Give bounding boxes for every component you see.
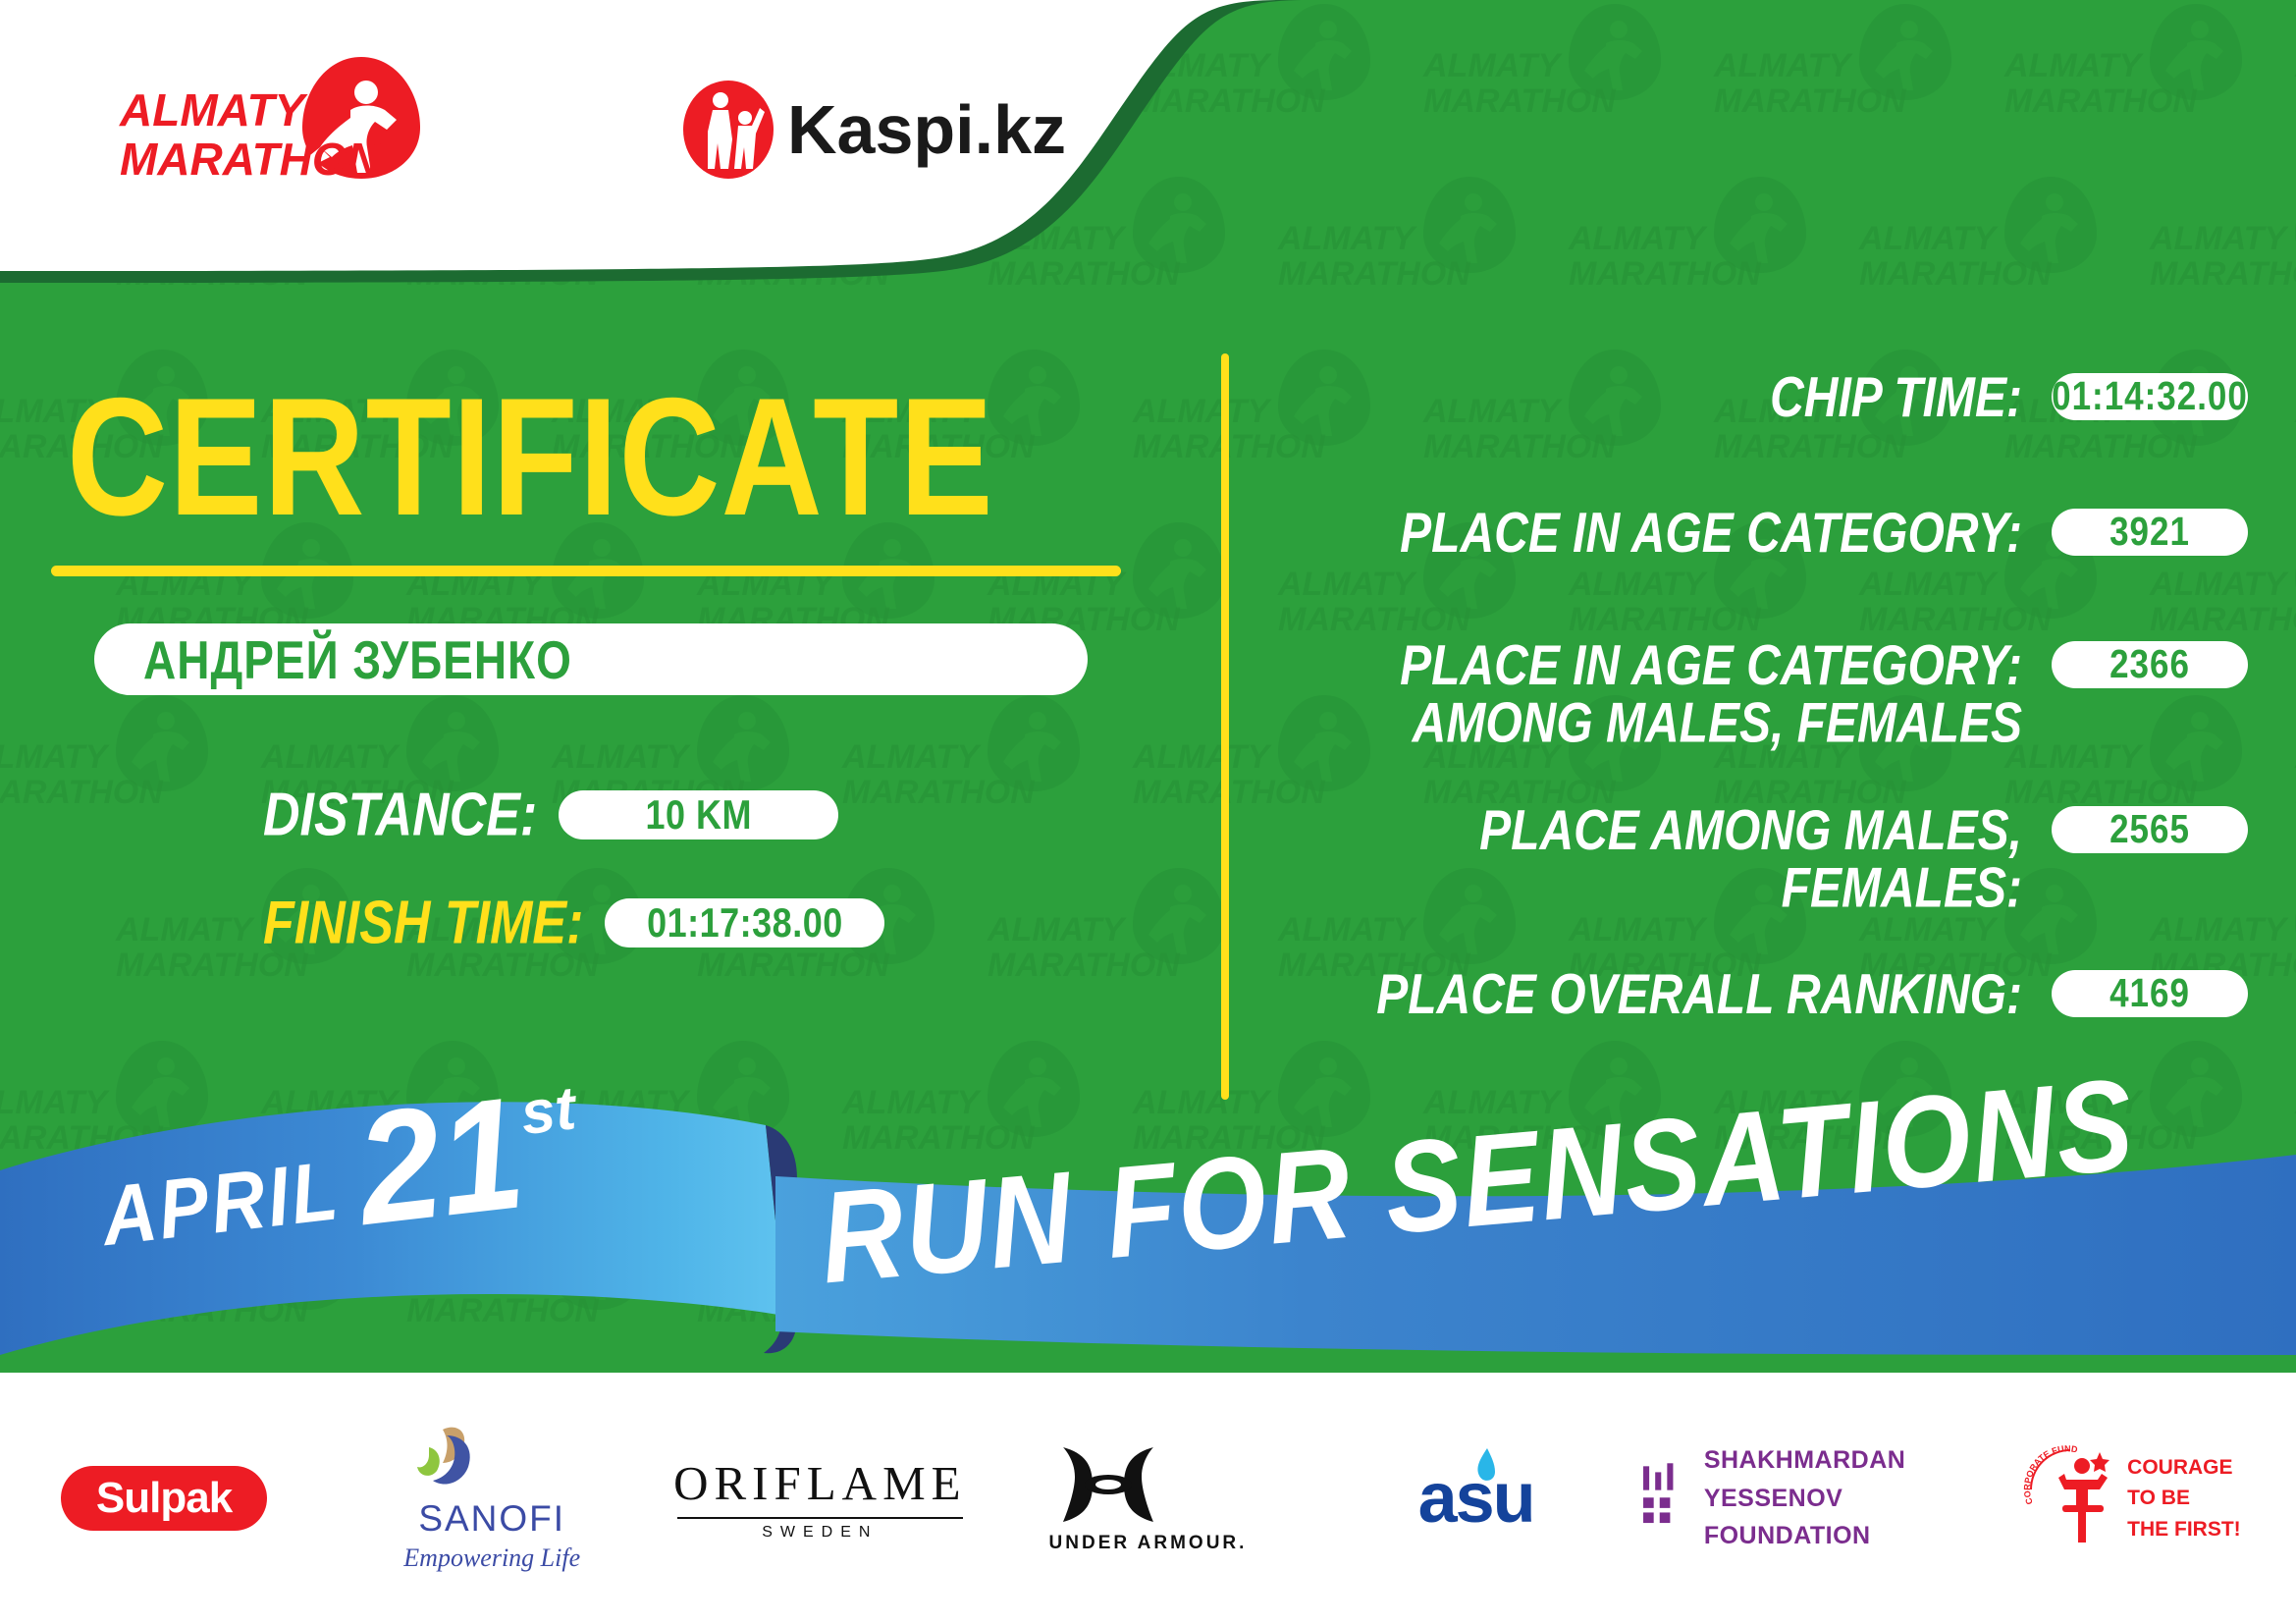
watermark-tile: ALMATYMARATHON [2285,0,2296,167]
under-armour-logo: UNDER ARMOUR. [1049,1443,1248,1554]
result-row-place-age-category: PLACE IN AGE CATEGORY: 3921 [1247,506,2248,556]
sponsor-courage-fund: CORPORATE FUND COURAGE TO BE THE FIRST! [1968,1415,2296,1582]
svg-text:ALMATY: ALMATY [1858,220,1999,257]
watermark-tile: ALMATYMARATHON [1559,163,1863,340]
result-value: 2366 [2109,642,2190,687]
svg-text:ALMATY: ALMATY [1568,1257,1708,1294]
result-label: PLACE AMONG MALES, FEMALES: [1247,803,2030,918]
svg-text:MARATHON: MARATHON [1278,1292,1471,1329]
kaspi-wordmark: Kaspi.kz [787,91,1066,168]
result-row-place-among-gender: PLACE AMONG MALES, FEMALES: 2565 [1247,803,2248,899]
distance-value: 10 KM [645,791,752,839]
header-logos: ALMATY MARATHON Kaspi.kz [0,0,1178,236]
svg-text:MARATHON: MARATHON [552,1119,745,1157]
svg-text:MARATHON: MARATHON [1859,1292,2053,1329]
under-armour-wordmark: UNDER ARMOUR. [1049,1533,1248,1554]
svg-text:MARATHON: MARATHON [116,1292,309,1329]
svg-text:ALMATY: ALMATY [1713,47,1853,84]
title-underline [51,566,1121,576]
sulpak-wordmark: Sulpak [96,1474,232,1523]
sulpak-logo: Sulpak [61,1466,267,1531]
almaty-word: ALMATY [119,84,309,135]
svg-text:MARATHON: MARATHON [1569,1292,1762,1329]
oriflame-tagline: SWEDEN [673,1524,966,1542]
finish-time-pill: 01:17:38.00 [605,898,884,947]
sanofi-mark-icon [403,1424,492,1494]
courage-line2: TO BE [2127,1483,2241,1514]
event-day-ordinal: st [517,1073,579,1149]
finish-time-value: 01:17:38.00 [647,899,843,947]
result-label: PLACE OVERALL RANKING: [1247,967,2030,1025]
kaspi-people-icon [683,81,774,179]
finish-time-label: FINISH TIME: [263,888,583,958]
result-row-chip-time: CHIP TIME: 01:14:32.00 [1247,370,2248,420]
svg-text:CORPORATE FUND: CORPORATE FUND [2023,1444,2079,1506]
marathon-word: MARATHON [120,134,381,185]
svg-text:MARATHON: MARATHON [988,1292,1181,1329]
svg-text:MARATHON: MARATHON [1278,255,1471,293]
result-row-place-age-category-gender: PLACE IN AGE CATEGORY: AMONG MALES, FEMA… [1247,638,2248,734]
result-pill: 4169 [2052,970,2248,1017]
result-row-place-overall: PLACE OVERALL RANKING: 4169 [1247,967,2248,1017]
svg-text:ALMATY: ALMATY [1422,47,1563,84]
event-day: 21 [350,1081,529,1242]
svg-text:MARATHON: MARATHON [406,1292,600,1329]
svg-text:ALMATY: ALMATY [1568,220,1708,257]
courage-figure-icon: CORPORATE FUND [2023,1444,2117,1552]
svg-text:ALMATY: ALMATY [0,1084,110,1121]
kaspi-logo: Kaspi.kz [677,79,1090,182]
courage-fund-wordmark: COURAGE TO BE THE FIRST! [2127,1452,2241,1545]
svg-text:ALMATY: ALMATY [405,1257,546,1294]
sponsor-sulpak: Sulpak [0,1415,328,1582]
courage-fund-logo: CORPORATE FUND COURAGE TO BE THE FIRST! [2023,1444,2241,1552]
result-pill: 2366 [2052,641,2248,688]
column-divider [1221,353,1229,1100]
left-column: CERTIFICATE АНДРЕЙ ЗУБЕНКО DISTANCE: 10 … [0,324,1207,1031]
result-pill: 3921 [2052,509,2248,556]
almaty-marathon-logo: ALMATY MARATHON [118,49,452,187]
distance-pill: 10 KM [559,790,838,839]
asu-wordmark: asu [1418,1459,1534,1538]
distance-row: DISTANCE: 10 KM [263,785,838,844]
yessenov-logo: SHAKHMARDAN YESSENOV FOUNDATION [1640,1441,1968,1555]
distance-label: DISTANCE: [263,780,537,850]
result-label: PLACE IN AGE CATEGORY: AMONG MALES, FEMA… [1247,638,2030,753]
result-pill: 01:14:32.00 [2052,373,2248,420]
participant-name-field: АНДРЕЙ ЗУБЕНКО [94,623,1088,695]
participant-name-value: АНДРЕЙ ЗУБЕНКО [143,628,572,691]
sponsor-under-armour: UNDER ARMOUR. [984,1415,1311,1582]
sponsor-sanofi: SANOFI Empowering Life [328,1415,656,1582]
asu-logo: asu [1418,1458,1534,1539]
svg-text:ALMATY: ALMATY [2003,47,2144,84]
results-column: CHIP TIME: 01:14:32.00 PLACE IN AGE CATE… [1247,349,2296,1124]
watermark-tile: ALMATYMARATHON [1268,163,1573,340]
sanofi-wordmark: SANOFI [403,1498,580,1540]
svg-text:ALMATY: ALMATY [2149,1257,2289,1294]
result-label: CHIP TIME: [1247,370,2030,428]
watermark-tile: ALMATYMARATHON [2140,1200,2296,1373]
watermark-tile: ALMATYMARATHON [1995,0,2296,167]
result-value: 01:14:32.00 [2052,374,2248,419]
watermark-tile: ALMATYMARATHON [1704,0,2008,167]
svg-text:ALMATY: ALMATY [696,1257,836,1294]
svg-text:MARATHON: MARATHON [2150,1292,2296,1329]
courage-line3: THE FIRST! [2127,1514,2241,1545]
oriflame-logo: ORIFLAME SWEDEN [673,1455,966,1542]
watermark-tile: ALMATYMARATHON [1849,163,2154,340]
page-title: CERTIFICATE [67,373,994,541]
svg-text:ALMATY: ALMATY [1858,1257,1999,1294]
result-value: 4169 [2109,971,2190,1016]
result-value: 2565 [2109,807,2190,852]
yessenov-line2: FOUNDATION [1704,1517,1968,1555]
yessenov-line1: SHAKHMARDAN YESSENOV [1704,1441,1968,1518]
yessenov-bars-icon [1640,1452,1686,1544]
sponsor-oriflame: ORIFLAME SWEDEN [656,1415,984,1582]
oriflame-wordmark: ORIFLAME [673,1455,966,1511]
yessenov-wordmark: SHAKHMARDAN YESSENOV FOUNDATION [1704,1441,1968,1555]
sponsor-strip: Sulpak SANOFI Empowering Life ORIFLAME S… [0,1373,2296,1624]
certificate-page: ALMATYMARATHONALMATYMARATHONALMATYMARATH… [0,0,2296,1624]
watermark-tile: ALMATYMARATHON [1414,0,1718,167]
result-pill: 2565 [2052,806,2248,853]
svg-text:MARATHON: MARATHON [1859,255,2053,293]
watermark-tile: ALMATYMARATHON [542,1027,846,1204]
sponsor-yessenov-foundation: SHAKHMARDAN YESSENOV FOUNDATION [1640,1415,1968,1582]
under-armour-mark-icon [1049,1443,1167,1526]
sponsor-asu: asu [1312,1415,1640,1582]
watermark-tile: ALMATYMARATHON [1849,1200,2154,1373]
svg-text:MARATHON: MARATHON [1569,255,1762,293]
sanofi-tagline: Empowering Life [403,1543,580,1573]
svg-text:MARATHON: MARATHON [2004,82,2198,120]
svg-text:ALMATY: ALMATY [2149,220,2289,257]
finish-time-row: FINISH TIME: 01:17:38.00 [263,893,884,952]
result-value: 3921 [2109,510,2190,555]
courage-line1: COURAGE [2127,1452,2241,1484]
watermark-tile: ALMATYMARATHON [2140,163,2296,340]
svg-text:ALMATY: ALMATY [841,1084,982,1121]
svg-text:MARATHON: MARATHON [1423,82,1617,120]
svg-text:MARATHON: MARATHON [1714,82,1907,120]
oriflame-rule [677,1517,962,1519]
sanofi-logo: SANOFI Empowering Life [403,1424,580,1573]
result-label: PLACE IN AGE CATEGORY: [1247,506,2030,564]
svg-text:MARATHON: MARATHON [2150,255,2296,293]
